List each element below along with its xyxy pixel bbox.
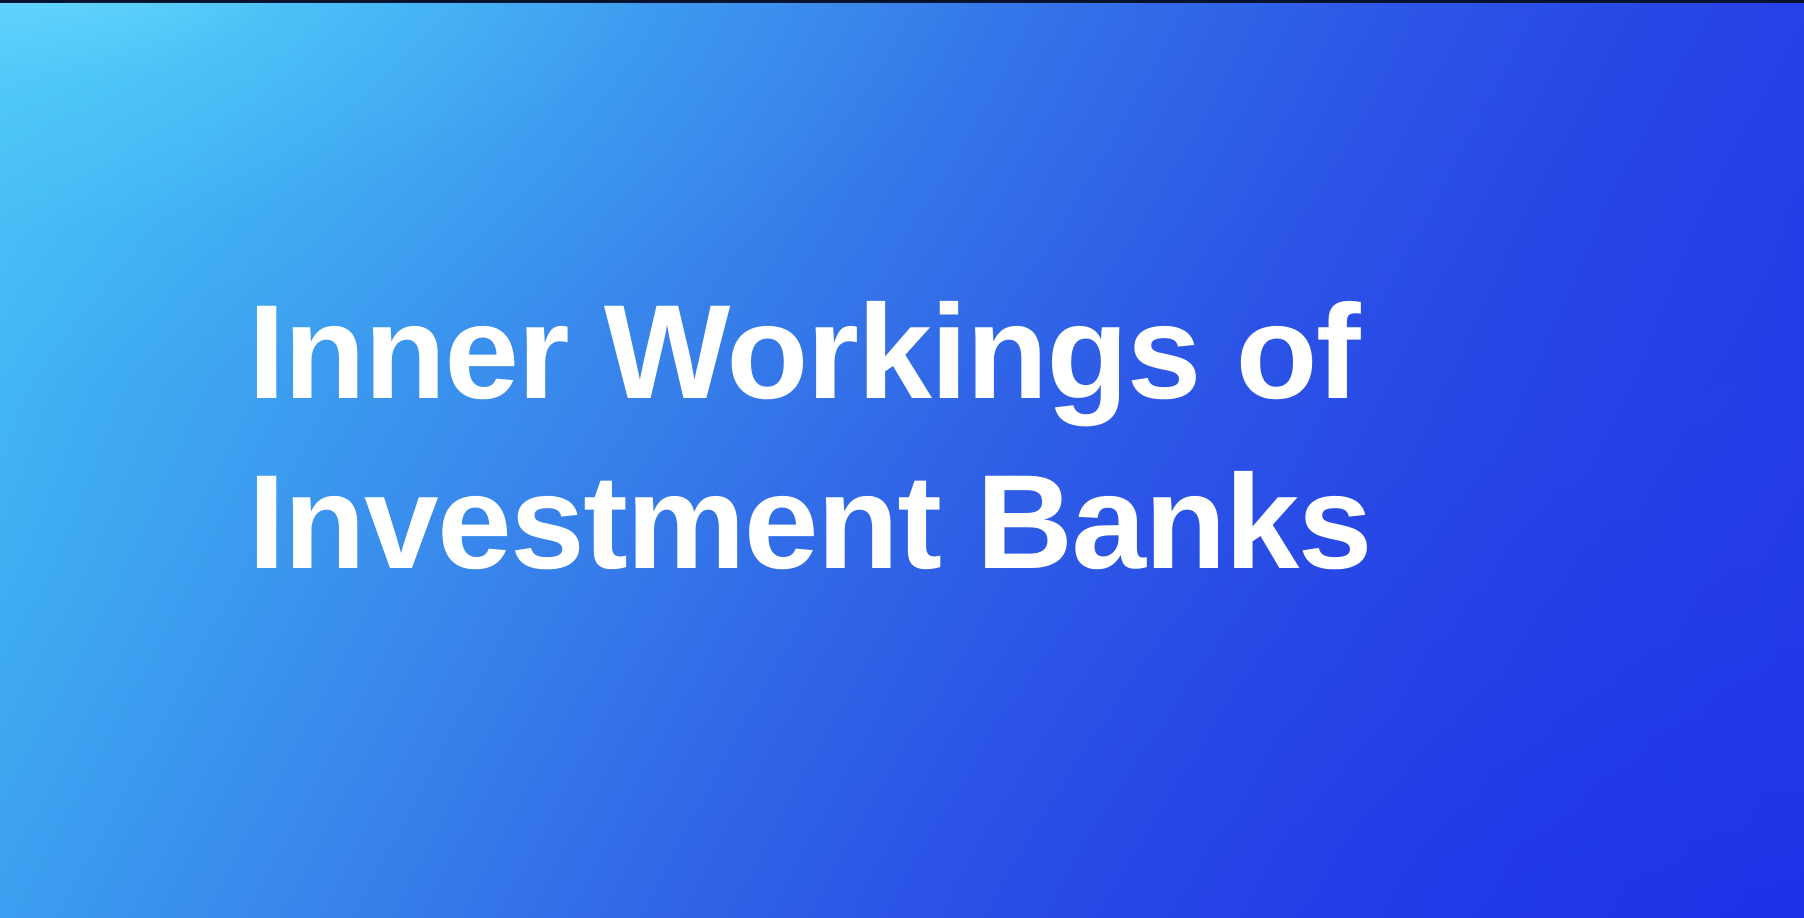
- title-block: Inner Workings of Investment Banks: [248, 268, 1568, 608]
- title-slide: Inner Workings of Investment Banks: [0, 0, 1804, 918]
- top-edge-strip: [0, 0, 1804, 3]
- title-line-2: Investment Banks: [248, 438, 1568, 608]
- title-line-1: Inner Workings of: [248, 268, 1568, 438]
